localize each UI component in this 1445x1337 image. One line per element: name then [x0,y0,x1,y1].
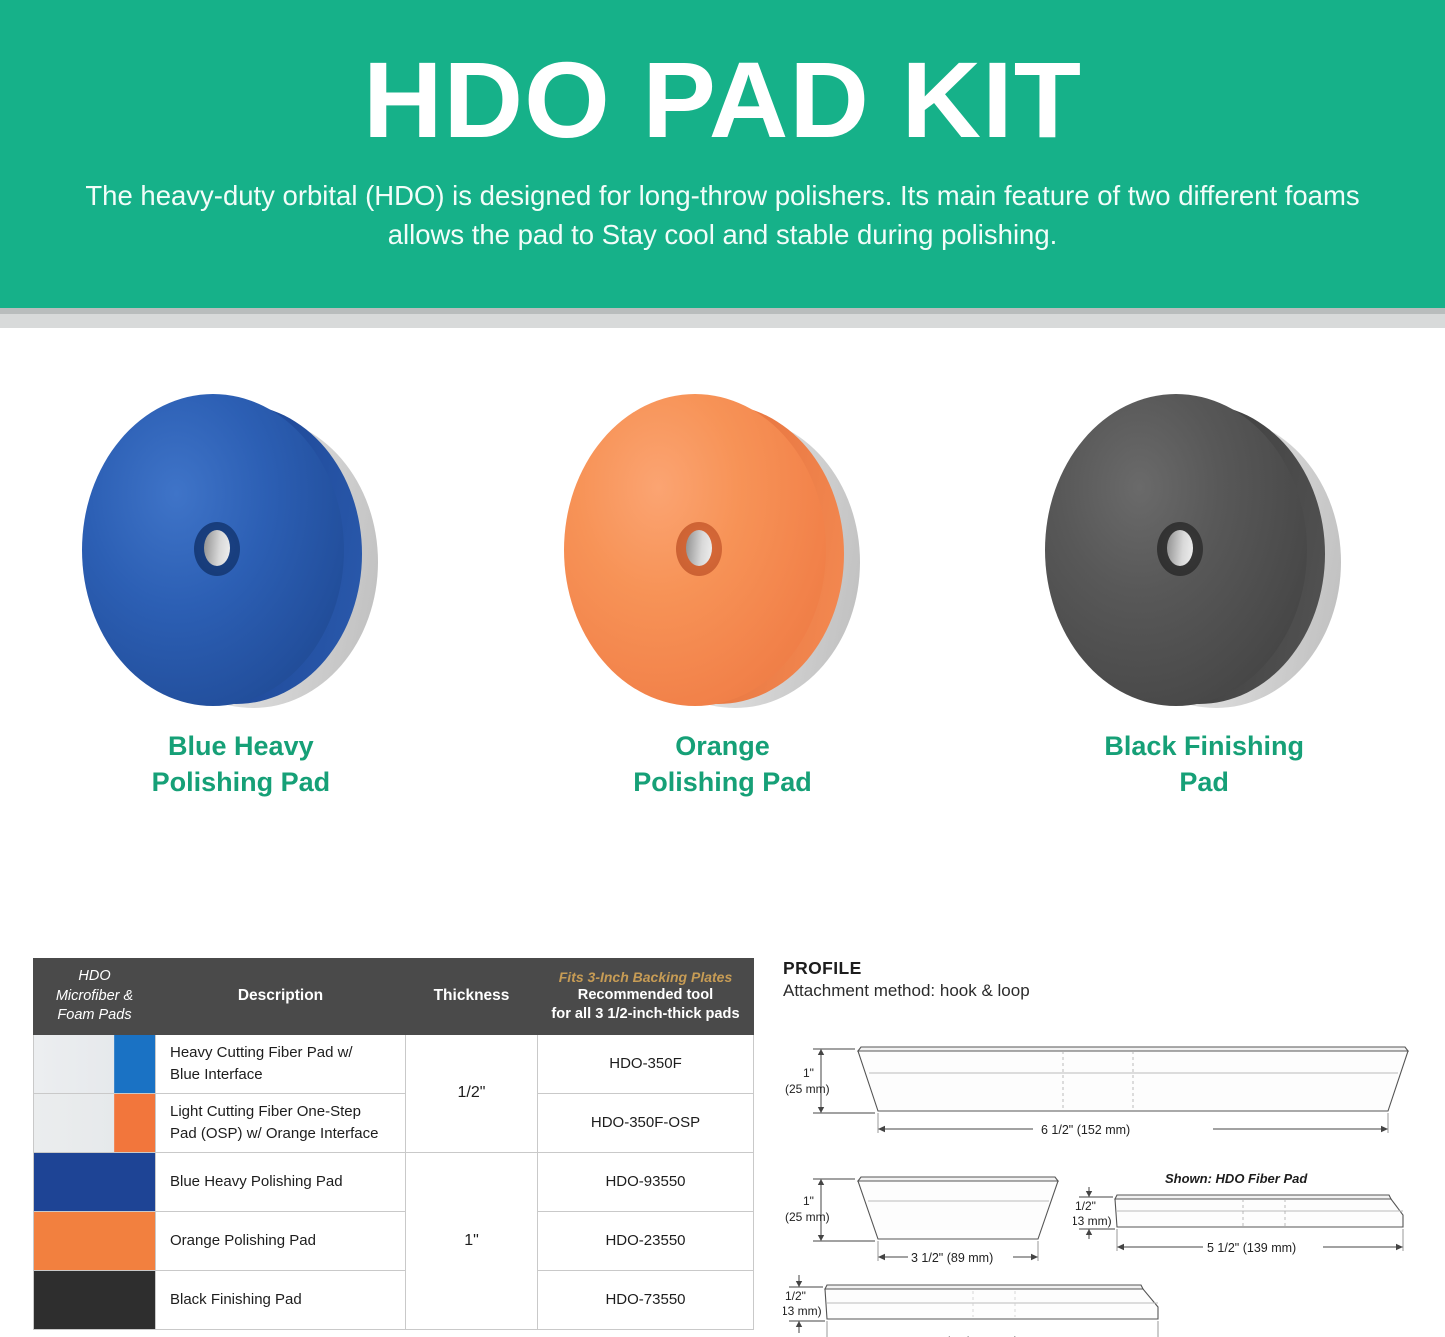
swatch-orange [34,1212,155,1270]
col-header-tool-gold: Fits 3-Inch Backing Plates [542,968,749,986]
swatch-fiber-orange [34,1094,155,1152]
swatch-black [34,1271,155,1329]
col-header-tool-bold: Recommended tool for all 3 1/2-inch-thic… [542,986,749,1024]
table-row: Orange Polishing Pad HDO-23550 [34,1211,754,1270]
spec-table-body: Heavy Cutting Fiber Pad w/ Blue Interfac… [34,1034,754,1329]
dim-height-label: 1/2" [1075,1199,1096,1213]
infographic-page: HDO PAD KIT The heavy-duty orbital (HDO)… [0,0,1445,1337]
swatch-blue [34,1153,155,1211]
dim-width-label: 3 1/2" (89 mm) [911,1251,993,1265]
diagram-flat-5half: Shown: HDO Fiber Pad [1073,1163,1423,1273]
col-header-swatch: HDO Microfiber & Foam Pads [34,959,156,1035]
pad-center-hole [676,522,722,576]
profile-attachment-method: Attachment method: hook & loop [783,981,1423,1001]
product-card-black: Black Finishing Pad [963,346,1445,876]
dim-width-label: 6 1/2" (152 mm) [1041,1123,1130,1137]
pad-center-hole [1157,522,1203,576]
spec-table: HDO Microfiber & Foam Pads Description T… [33,958,754,1330]
profile-diagrams: 1" (25 mm) 6 1/2" (152 mm) [783,1015,1423,1335]
black-pad-image [1039,364,1369,714]
row-description: Blue Heavy Polishing Pad [156,1152,406,1211]
orange-pad-image [558,364,888,714]
dim-height-label: 1" [803,1066,814,1080]
dim-height-mm: (13 mm) [783,1304,822,1318]
product-card-orange: Orange Polishing Pad [482,346,964,876]
swatch-fiber-blue [34,1035,155,1093]
dim-height-label: 1" [803,1194,814,1208]
dim-height-label: 1/2" [785,1289,806,1303]
table-row: Light Cutting Fiber One-Step Pad (OSP) w… [34,1093,754,1152]
diagram-caption: Shown: HDO Fiber Pad [1165,1171,1308,1186]
diagram-tapered-3half: 1" (25 mm) 3 1/2" (89 mm) [783,1163,1083,1273]
dim-height-mm: (25 mm) [785,1210,830,1224]
hero-banner: HDO PAD KIT The heavy-duty orbital (HDO)… [0,0,1445,308]
hero-subtitle: The heavy-duty orbital (HDO) is designed… [53,176,1393,254]
spec-table-head: HDO Microfiber & Foam Pads Description T… [34,959,754,1035]
pad-center-hole-inner [1167,530,1193,566]
row-tool: HDO-350F [538,1034,754,1093]
row-swatch-orange [34,1211,156,1270]
row-swatch-blue [34,1152,156,1211]
row-description: Light Cutting Fiber One-Step Pad (OSP) w… [156,1093,406,1152]
diagram-tapered-6half: 1" (25 mm) 6 1/2" (152 mm) [783,1029,1423,1147]
row-tool: HDO-23550 [538,1211,754,1270]
row-tool: HDO-73550 [538,1270,754,1329]
blue-pad-image [76,364,406,714]
row-description: Orange Polishing Pad [156,1211,406,1270]
row-tool: HDO-93550 [538,1152,754,1211]
table-header-row: HDO Microfiber & Foam Pads Description T… [34,959,754,1035]
pad-center-hole [194,522,240,576]
row-tool: HDO-350F-OSP [538,1093,754,1152]
col-header-tool: Fits 3-Inch Backing Plates Recommended t… [538,959,754,1035]
product-showcase: Blue Heavy Polishing Pad Orange Polishin… [0,346,1445,876]
product-label-blue: Blue Heavy Polishing Pad [152,728,331,801]
lower-section: HDO Microfiber & Foam Pads Description T… [0,950,1445,1337]
col-header-description: Description [156,959,406,1035]
table-row: Black Finishing Pad HDO-73550 [34,1270,754,1329]
row-thickness-one: 1" [406,1152,538,1329]
row-description: Black Finishing Pad [156,1270,406,1329]
row-thickness-half: 1/2" [406,1034,538,1152]
product-label-orange: Orange Polishing Pad [633,728,812,801]
diagram-flat-6half: 1/2" (13 mm) 6 1/2" (152 mm) [783,1265,1423,1337]
table-row: Blue Heavy Polishing Pad 1" HDO-93550 [34,1152,754,1211]
row-description: Heavy Cutting Fiber Pad w/ Blue Interfac… [156,1034,406,1093]
page-title: HDO PAD KIT [363,46,1082,154]
col-header-thickness: Thickness [406,959,538,1035]
row-swatch-fiber-orange [34,1093,156,1152]
pad-center-hole-inner [686,530,712,566]
profile-panel: PROFILE Attachment method: hook & loop [783,958,1423,1335]
row-swatch-black [34,1270,156,1329]
product-label-black: Black Finishing Pad [1104,728,1304,801]
pad-center-hole-inner [204,530,230,566]
dim-height-mm: (25 mm) [785,1082,830,1096]
dim-width-label: 5 1/2" (139 mm) [1207,1241,1296,1255]
row-swatch-fiber-blue [34,1034,156,1093]
profile-title: PROFILE [783,958,1423,979]
table-row: Heavy Cutting Fiber Pad w/ Blue Interfac… [34,1034,754,1093]
product-card-blue: Blue Heavy Polishing Pad [0,346,482,876]
hero-divider-light [0,314,1445,328]
dim-height-mm: (13 mm) [1073,1214,1112,1228]
